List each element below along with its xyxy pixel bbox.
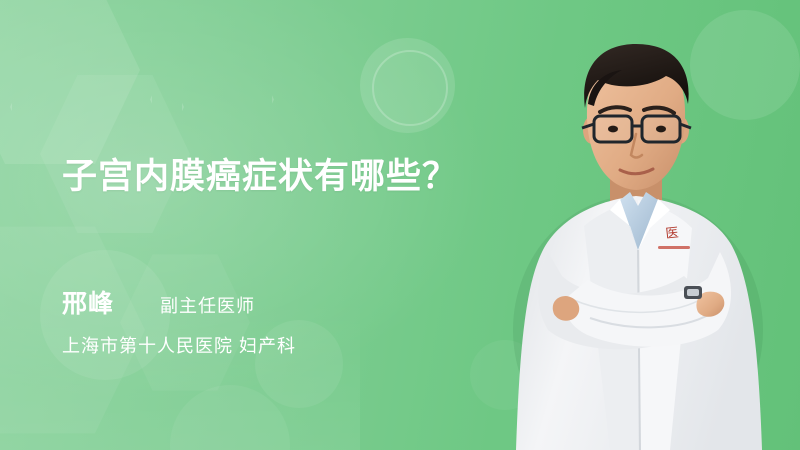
doctor-name-row: 邢峰 副主任医师: [62, 284, 255, 320]
page-title: 子宫内膜癌症状有哪些？: [62, 148, 458, 199]
svg-text:医: 医: [665, 225, 680, 241]
doctor-affiliation: 上海市第十人民医院 妇产科: [62, 332, 296, 358]
doctor-rank: 副主任医师: [160, 292, 255, 318]
doctor-portrait-photo: 医: [470, 0, 800, 450]
doctor-name: 邢峰: [62, 284, 114, 320]
video-cover-slide: 医 子宫内膜癌症状有哪些？ 邢峰 副主: [0, 0, 800, 450]
